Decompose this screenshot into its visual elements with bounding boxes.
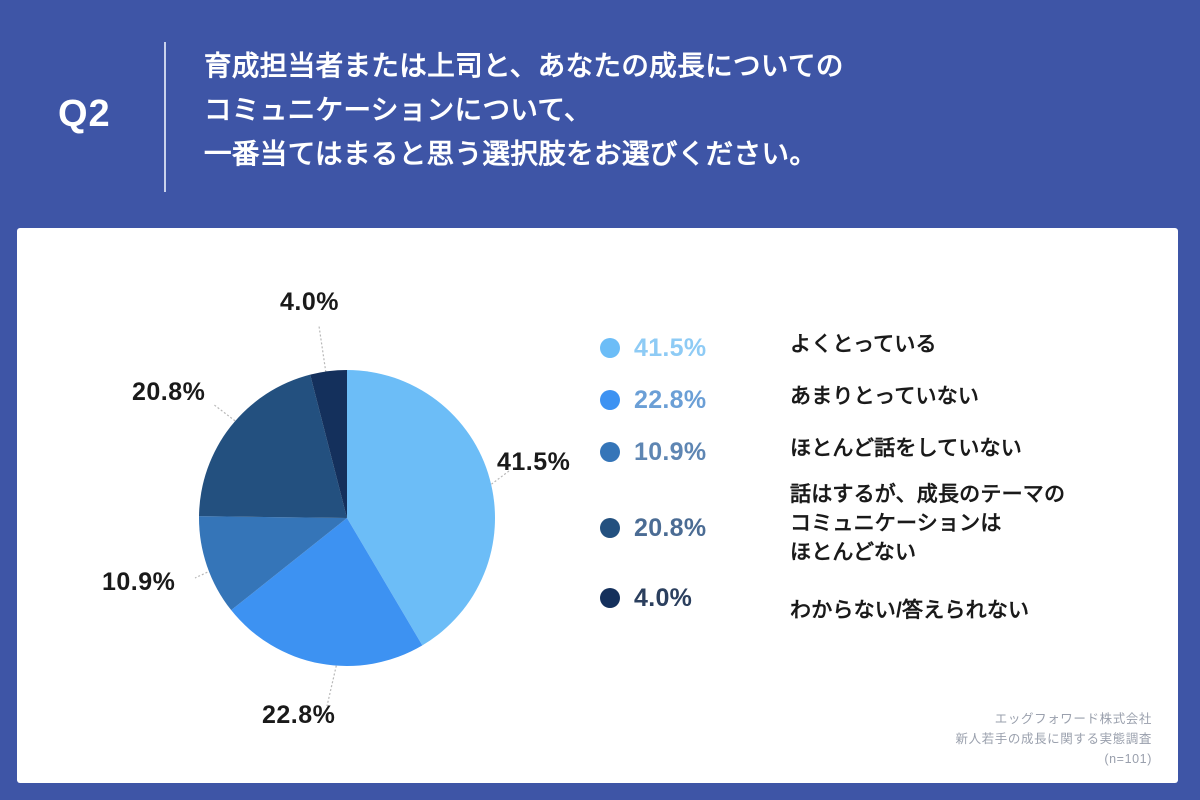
legend-value-5: 4.0%: [634, 588, 732, 608]
pie-chart-area: 41.5% 22.8% 10.9% 20.8% 4.0%: [17, 228, 617, 783]
legend-swatch-1: [600, 338, 620, 358]
legend-label-3: ほとんど話をしていない: [790, 434, 1170, 463]
question-number: Q2: [58, 95, 111, 133]
legend-row-3[interactable]: 10.9%: [600, 442, 732, 462]
legend-value-1: 41.5%: [634, 338, 732, 358]
legend-value-4: 20.8%: [634, 518, 732, 538]
slide-root: Q2 育成担当者または上司と、あなたの成長についての コミュニケーションについて…: [0, 0, 1200, 800]
attribution-sample-size: (n=101): [955, 749, 1152, 769]
pie-value-label-1: 41.5%: [497, 448, 570, 477]
header-divider: [164, 42, 166, 192]
question-title: 育成担当者または上司と、あなたの成長についての コミュニケーションについて、 一…: [204, 44, 1164, 176]
legend-swatch-5: [600, 588, 620, 608]
attribution-company: エッグフォワード株式会社: [955, 709, 1152, 729]
pie-slices: [199, 370, 495, 666]
legend-swatch-2: [600, 390, 620, 410]
legend-swatch-4: [600, 518, 620, 538]
pie-value-label-2: 22.8%: [262, 701, 335, 730]
attribution-survey: 新人若手の成長に関する実態調査: [955, 729, 1152, 749]
pie-value-label-3: 10.9%: [102, 568, 175, 597]
brand-logo-text: リサピー: [47, 756, 133, 786]
question-title-line-1: 育成担当者または上司と、あなたの成長についての: [204, 44, 1164, 88]
pie-value-label-4: 20.8%: [132, 378, 205, 407]
question-title-line-3: 一番当てはまると思う選択肢をお選びください。: [204, 132, 1164, 176]
attribution-block: エッグフォワード株式会社 新人若手の成長に関する実態調査 (n=101): [955, 709, 1152, 769]
legend-value-2: 22.8%: [634, 390, 732, 410]
legend-label-4: 話はするが、成長のテーマの コミュニケーションは ほとんどない: [790, 480, 1170, 567]
legend-label-2: あまりとっていない: [790, 382, 1170, 411]
pie-value-label-5: 4.0%: [280, 288, 339, 317]
legend-value-3: 10.9%: [634, 442, 732, 462]
legend-label-5: わからない/答えられない: [790, 596, 1170, 625]
legend-row-5[interactable]: 4.0%: [600, 588, 732, 608]
legend-swatch-3: [600, 442, 620, 462]
legend-label-1: よくとっている: [790, 330, 1170, 359]
legend-row-1[interactable]: 41.5%: [600, 338, 732, 358]
search-pin-icon: [18, 759, 40, 783]
question-title-line-2: コミュニケーションについて、: [204, 88, 1164, 132]
legend-row-2[interactable]: 22.8%: [600, 390, 732, 410]
brand-logo[interactable]: リサピー: [0, 742, 172, 800]
legend-row-4[interactable]: 20.8%: [600, 518, 732, 538]
header-band: Q2 育成担当者または上司と、あなたの成長についての コミュニケーションについて…: [0, 0, 1200, 228]
chart-card: 41.5% 22.8% 10.9% 20.8% 4.0% 41.5% よくとって…: [17, 228, 1178, 783]
